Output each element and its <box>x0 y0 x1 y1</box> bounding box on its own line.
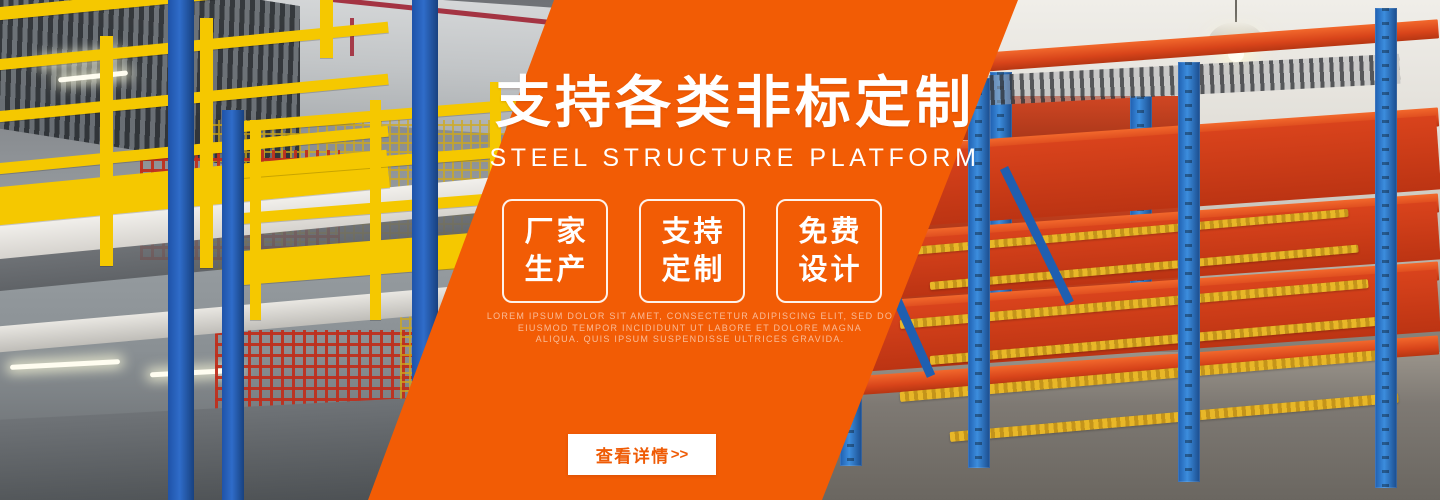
badge-line-1: 支持 <box>661 213 725 251</box>
feature-badge-customization[interactable]: 支持 定制 <box>639 199 745 303</box>
description-line-2: EIUSMOD TEMPOR INCIDIDUNT UT LABORE ET D… <box>460 323 920 335</box>
banner-content: 支持各类非标定制 STEEL STRUCTURE PLATFORM 厂家 生产 … <box>0 0 1440 500</box>
badge-line-1: 免费 <box>798 213 862 251</box>
feature-badge-group: 厂家 生产 支持 定制 免费 设计 <box>502 199 882 304</box>
subheadline: STEEL STRUCTURE PLATFORM <box>0 144 1440 173</box>
badge-line-2: 生产 <box>524 251 588 289</box>
badge-line-2: 设计 <box>798 251 862 289</box>
feature-badge-manufacturer[interactable]: 厂家 生产 <box>502 199 608 303</box>
description-text: LOREM IPSUM DOLOR SIT AMET, CONSECTETUR … <box>460 311 920 346</box>
view-details-label: 查看详情 <box>596 442 670 467</box>
headline: 支持各类非标定制 <box>0 74 1440 133</box>
description-line-1: LOREM IPSUM DOLOR SIT AMET, CONSECTETUR … <box>460 311 920 323</box>
view-details-button[interactable]: 查看详情>> <box>568 434 716 475</box>
badge-line-2: 定制 <box>661 251 725 289</box>
description-line-3: ALIQUA. QUIS IPSUM SUSPENDISSE ULTRICES … <box>460 334 920 346</box>
feature-badge-free-design[interactable]: 免费 设计 <box>776 199 882 303</box>
chevron-right-double-icon: >> <box>671 446 689 463</box>
badge-line-1: 厂家 <box>524 213 588 251</box>
promo-banner: 支持各类非标定制 STEEL STRUCTURE PLATFORM 厂家 生产 … <box>0 0 1440 500</box>
